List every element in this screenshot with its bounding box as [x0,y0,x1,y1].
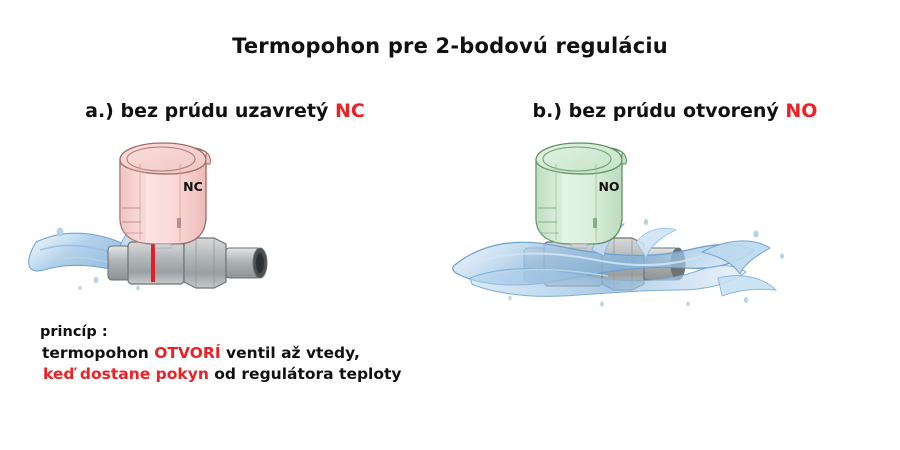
figure-nc: NC [0,138,450,313]
caption-nc-line3: keď dostane pokyn od regulátora teploty [40,364,402,385]
caption-nc-line2-accent: OTVORÍ [154,344,220,362]
valve-closed-stripe [151,244,155,282]
panel-no: b.) bez prúdu otvorený NO [450,0,900,450]
panel-heading-no: b.) bez prúdu otvorený NO [450,100,900,122]
actuator-no: NO [536,143,626,248]
figure-no: NO [450,138,900,313]
caption-nc-line2: termopohon OTVORÍ ventil až vtedy, [40,343,402,364]
actuator-nc: NC [120,143,210,248]
actuator-label-no: NO [598,179,619,194]
caption-nc-line3-accent: keď dostane pokyn [43,365,209,383]
caption-nc-line3-post: od regulátora teploty [209,365,402,383]
caption-nc-line2-post: ventil až vtedy, [221,344,360,362]
panel-heading-no-text: b.) bez prúdu otvorený [533,100,786,122]
slide-canvas: Termopohon pre 2-bodovú reguláciu a.) be… [0,0,900,450]
caption-nc-line2-pre: termopohon [42,344,154,362]
panel-heading-nc: a.) bez prúdu uzavretý NC [0,100,450,122]
panel-heading-nc-accent: NC [335,100,365,122]
panel-heading-nc-text: a.) bez prúdu uzavretý [85,100,335,122]
panel-nc: a.) bez prúdu uzavretý NC [0,0,450,450]
panel-heading-no-accent: NO [785,100,817,122]
caption-nc-label: princíp : [40,322,402,343]
caption-nc: princíp : termopohon OTVORÍ ventil až vt… [40,322,402,385]
actuator-label-nc: NC [183,179,203,194]
